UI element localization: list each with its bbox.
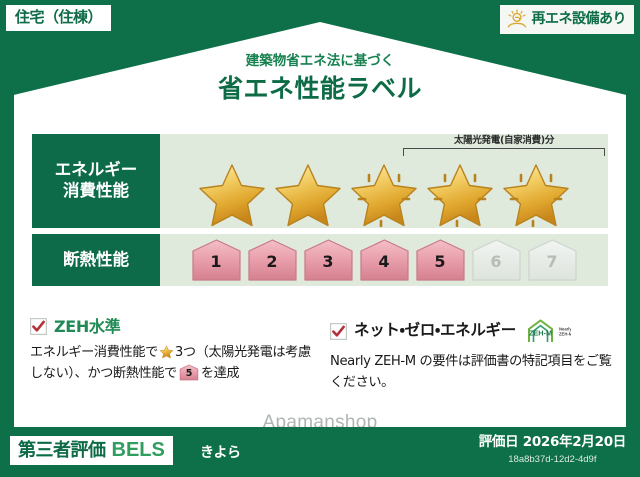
energy-label-root: 住宅（住棟） 再エネ設備あり 建築物省エネ法に基づく 省エネ性能ラベル (0, 0, 640, 477)
renewable-badge-label: 再エネ設備あり (532, 12, 627, 26)
net-zero-description: Nearly ZEH-M の要件は評価書の特記項目をご覧ください。 (330, 351, 614, 394)
insulation-grade-badge: 1 (190, 238, 243, 282)
housing-type-tag: 住宅（住棟） (6, 5, 111, 31)
grade-value: 2 (246, 254, 299, 270)
zeh-m-logo-icon: ZEH-M Nearly ZEH-M (523, 318, 571, 344)
grade-value: 5 (414, 254, 467, 270)
grade-value: 7 (526, 254, 579, 270)
energy-performance-row: エネルギー 消費性能 太陽光発電(自家消費)分 (32, 134, 608, 228)
insulation-grade-badge-inactive: 6 (470, 238, 523, 282)
renewable-equipment-badge: 再エネ設備あり (500, 5, 635, 34)
star-icon (271, 159, 345, 227)
insulation-performance-label: 断熱性能 (32, 234, 160, 286)
solar-generation-annotation: 太陽光発電(自家消費)分 (403, 136, 605, 156)
insulation-performance-row: 断熱性能 (32, 234, 608, 286)
property-name: きよら (200, 446, 241, 460)
star-icon (195, 159, 269, 227)
inline-star-icon (159, 344, 174, 359)
grade-value: 3 (302, 254, 355, 270)
insulation-grade-badge: 4 (358, 238, 411, 282)
zeh-title: ZEH水準 (54, 319, 120, 335)
solar-annotation-label: 太陽光発電(自家消費)分 (403, 136, 605, 146)
zeh-standard-column: ZEH水準 エネルギー消費性能で 3つ（太陽光発電は考慮しない）、かつ断熱性能で… (30, 318, 314, 394)
footer-bar: 第三者評価 BELS きよら 評価日 2026年2月20日 18a8b37d-1… (0, 427, 640, 477)
star-icon-solar (499, 159, 573, 227)
insulation-performance-body: 1 2 3 (160, 234, 608, 286)
svg-text:ZEH-M: ZEH-M (559, 332, 571, 337)
evaluation-date: 評価日 2026年2月20日 (479, 436, 626, 450)
sun-icon (506, 9, 528, 29)
grade-value: 4 (358, 254, 411, 270)
net-zero-heading: ネット・ゼロ・エネルギー ZEH-M Nearly ZEH-M (330, 318, 614, 344)
zeh-description: エネルギー消費性能で 3つ（太陽光発電は考慮しない）、かつ断熱性能で 5 を達成 (30, 342, 314, 385)
energy-performance-label: エネルギー 消費性能 (32, 134, 160, 228)
inline-grade-badge: 5 (179, 364, 199, 381)
solar-bracket (403, 148, 605, 156)
info-columns: ZEH水準 エネルギー消費性能で 3つ（太陽光発電は考慮しない）、かつ断熱性能で… (30, 318, 614, 394)
star-icon-solar (423, 159, 497, 227)
bels-certification-box: 第三者評価 BELS (10, 436, 173, 465)
title-block: 建築物省エネ法に基づく 省エネ性能ラベル (0, 55, 640, 101)
grade-value: 6 (470, 254, 523, 270)
performance-rows: エネルギー 消費性能 太陽光発電(自家消費)分 (32, 134, 608, 292)
zeh-heading: ZEH水準 (30, 318, 314, 335)
zeh-description-part1: エネルギー消費性能で (30, 345, 158, 360)
title-subtitle: 建築物省エネ法に基づく (0, 55, 640, 69)
page-title: 省エネ性能ラベル (0, 76, 640, 101)
bels-label-en: BELS (112, 440, 165, 460)
grade-value: 1 (190, 254, 243, 270)
bels-label-jp: 第三者評価 (18, 442, 106, 460)
insulation-grade-badge: 5 (414, 238, 467, 282)
net-zero-energy-column: ネット・ゼロ・エネルギー ZEH-M Nearly ZEH-M Nearly Z… (330, 318, 614, 394)
inline-grade-value: 5 (179, 369, 199, 379)
evaluation-info: 評価日 2026年2月20日 18a8b37d-12d2-4d9f (479, 436, 626, 464)
star-icon-solar (347, 159, 421, 227)
energy-performance-body: 太陽光発電(自家消費)分 (160, 134, 608, 228)
insulation-grade-scale: 1 2 3 (160, 234, 608, 286)
evaluation-id: 18a8b37d-12d2-4d9f (479, 455, 626, 465)
checkbox-checked-icon (30, 318, 47, 335)
svg-text:ZEH-M: ZEH-M (529, 329, 552, 338)
insulation-grade-badge-inactive: 7 (526, 238, 579, 282)
net-zero-title: ネット・ゼロ・エネルギー (354, 323, 516, 339)
insulation-grade-badge: 2 (246, 238, 299, 282)
star-rating (160, 159, 608, 227)
checkbox-checked-icon (330, 323, 347, 340)
zeh-description-part3: を達成 (201, 366, 239, 381)
insulation-grade-badge: 3 (302, 238, 355, 282)
